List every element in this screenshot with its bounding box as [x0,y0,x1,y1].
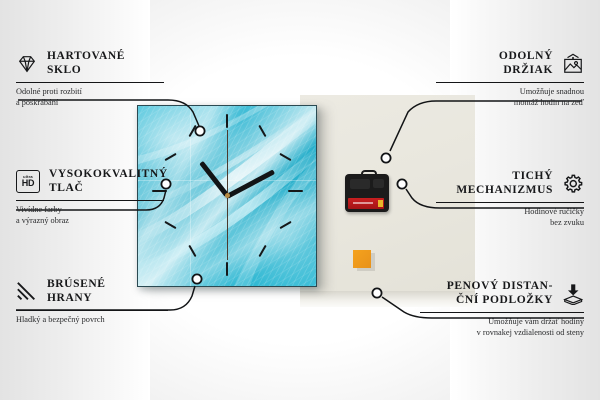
feature-foam-spacers: PENOVÝ DISTAN- ČNÍ PODLOŽKY Umožňuje vám… [420,280,584,338]
clock-tick-12 [226,114,228,128]
feature-header: PENOVÝ DISTAN- ČNÍ PODLOŽKY [420,280,584,307]
clock-center-pin [225,193,230,198]
ultra-hd-icon: ultra HD [16,170,40,193]
feature-header: HARTOVANÉ SKLO [16,50,164,77]
bevelled-edge-icon [16,281,38,303]
feature-title: HARTOVANÉ SKLO [47,50,125,77]
feature-title: ODOLNÝ DRŽIAK [499,50,553,77]
feature-description: Umožňuje vám držať hodiny v rovnakej vzd… [420,317,584,338]
feature-durable-hanger: ODOLNÝ DRŽIAK Umožňuje snadnou montáž ho… [436,50,584,108]
feature-divider [420,312,584,313]
foam-pad-arrow-icon [562,283,584,305]
feature-description: Vivídne farby a výrazný obraz [16,205,164,226]
ultra-hd-icon-main-text: HD [22,179,35,188]
feature-title: PENOVÝ DISTAN- ČNÍ PODLOŽKY [447,280,553,307]
feature-divider [16,310,168,311]
feature-description: Hladký a bezpečný povrch [16,315,168,326]
feature-header: ODOLNÝ DRŽIAK [436,50,584,77]
foam-spacer-pad [353,250,371,268]
feature-description: Hodinové ručičky bez zvuku [436,207,584,228]
product-infographic: HARTOVANÉ SKLO Odolné proti rozbití a po… [0,0,600,400]
feature-high-quality-print: ultra HD VYSOKOKVALITNÝ TLAČ Vivídne far… [16,168,164,226]
feature-divider [16,82,164,83]
feature-tempered-glass: HARTOVANÉ SKLO Odolné proti rozbití a po… [16,50,164,108]
feature-header: BRÚSENÉ HRANY [16,278,168,305]
feature-title: VYSOKOKVALITNÝ TLAČ [49,168,168,195]
clock-tick-6 [226,262,228,276]
movement-battery [348,198,384,209]
diamond-icon [16,53,38,75]
feature-title: TICHÝ MECHANIZMUS [456,170,553,197]
wall-clock [137,105,317,287]
clock-tick-3 [288,190,303,192]
quartz-movement [345,170,389,212]
feature-header: TICHÝ MECHANIZMUS [436,170,584,197]
feature-divider [436,82,584,83]
feature-header: ultra HD VYSOKOKVALITNÝ TLAČ [16,168,164,195]
feature-divider [16,200,164,201]
gear-icon [562,173,584,195]
picture-hanger-icon [562,53,584,75]
feature-divider [436,202,584,203]
feature-silent-movement: TICHÝ MECHANIZMUS Hodinové ručičky bez z… [436,170,584,228]
feature-bevelled-edges: BRÚSENÉ HRANY Hladký a bezpečný povrch [16,278,168,326]
feature-description: Odolné proti rozbití a poškrábání [16,87,164,108]
feature-title: BRÚSENÉ HRANY [47,278,106,305]
feature-description: Umožňuje snadnou montáž hodin na zeď [436,87,584,108]
